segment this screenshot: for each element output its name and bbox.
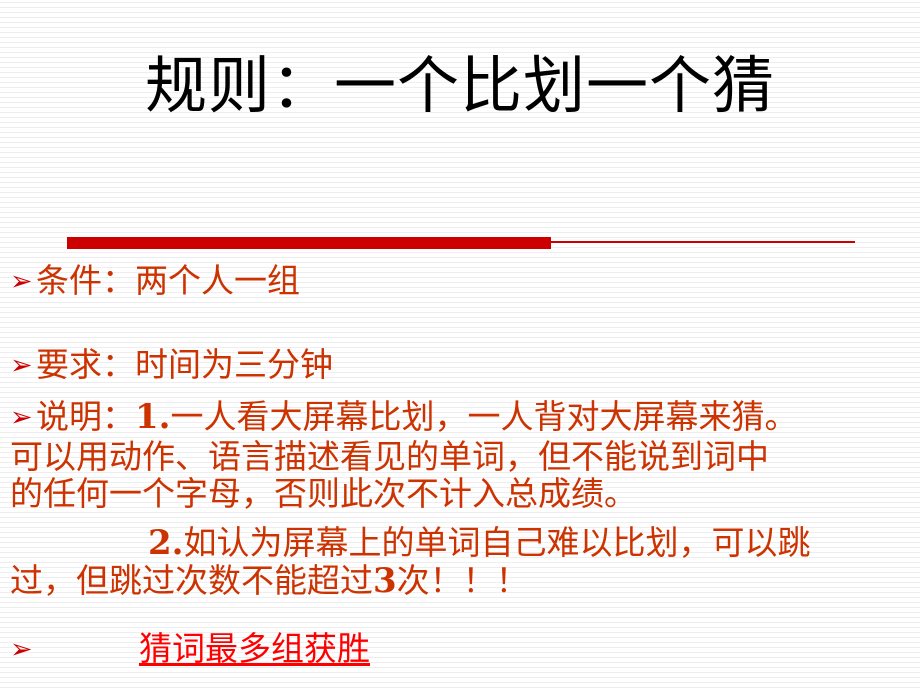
explanation-label: 说明： (36, 397, 135, 436)
red-divider (67, 236, 855, 249)
bullet-item-conclusion: ➢猜词最多组获胜 (10, 630, 910, 670)
conclusion-text: 猜词最多组获胜 (139, 629, 370, 668)
spacer (10, 332, 910, 346)
body-content: ➢条件：两个人一组 ➢要求：时间为三分钟 ➢说明：1.一人看大屏幕比划，一人背对… (10, 262, 910, 670)
arrow-bullet-icon: ➢ (10, 399, 36, 436)
explanation-item2-line2: 过，但跳过次数不能超过3次！！！ (10, 562, 910, 600)
explanation-item1-line1: 一人看大屏幕比划，一人背对大屏幕来猜。 (171, 397, 798, 436)
arrow-bullet-icon: ➢ (10, 347, 36, 384)
explanation-item2-tail: 次！！！ (397, 561, 529, 600)
explanation-item2-line1: 2.如认为屏幕上的单词自己难以比划，可以跳 (10, 524, 910, 562)
explanation-item1-number: 1. (135, 397, 171, 437)
slide-canvas: 规则：一个比划一个猜 ➢条件：两个人一组 ➢要求：时间为三分钟 ➢说明：1.一人… (0, 0, 920, 690)
bullet-item-explanation: ➢说明：1.一人看大屏幕比划，一人背对大屏幕来猜。 (10, 398, 910, 438)
divider-thin-rule (551, 241, 855, 243)
divider-thick-bar (67, 237, 551, 249)
bullet-item-requirement: ➢要求：时间为三分钟 (10, 346, 910, 386)
explanation-item1-line3: 的任何一个字母，否则此次不计入总成绩。 (10, 475, 910, 512)
arrow-bullet-icon: ➢ (10, 263, 36, 300)
explanation-skip-count: 3 (373, 561, 397, 601)
explanation-item1-line2: 可以用动作、语言描述看见的单词，但不能说到词中 (10, 438, 910, 475)
explanation-item2-text: 如认为屏幕上的单词自己难以比划，可以跳 (184, 523, 811, 562)
spacer (10, 302, 910, 332)
bullet-item-condition: ➢条件：两个人一组 (10, 262, 910, 302)
explanation-item2-text-cont: 过，但跳过次数不能超过 (10, 561, 373, 600)
bullet-label-requirement: 要求：时间为三分钟 (36, 345, 333, 384)
arrow-bullet-icon: ➢ (10, 631, 36, 668)
spacer (10, 600, 910, 630)
explanation-item2-number: 2. (148, 523, 184, 563)
page-title: 规则：一个比划一个猜 (0, 48, 920, 124)
bullet-label-condition: 条件：两个人一组 (36, 261, 300, 300)
